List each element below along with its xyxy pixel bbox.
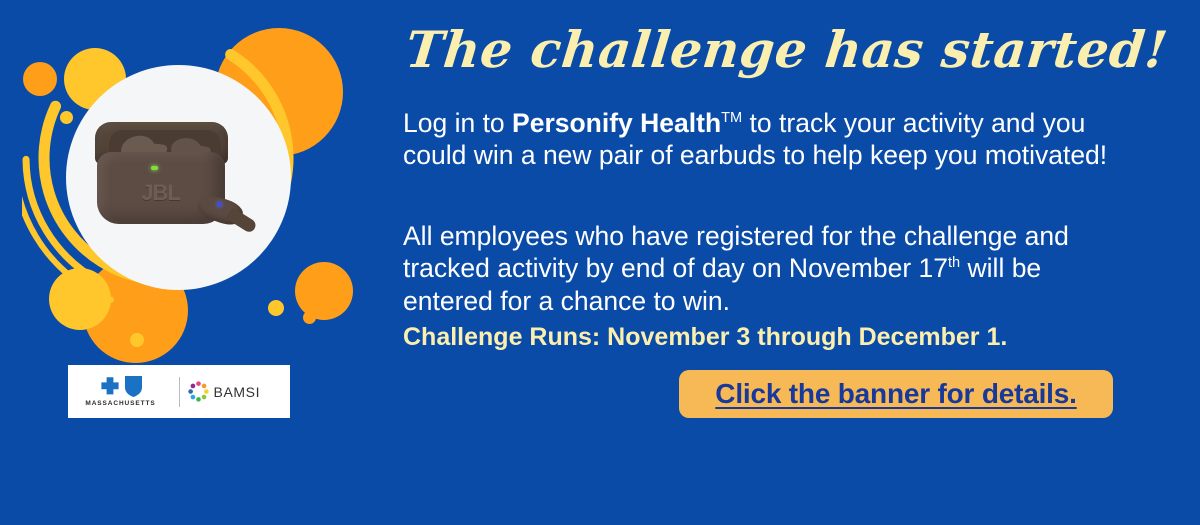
headline: The challenge has started! [403, 24, 1149, 77]
blue-shield-icon [124, 375, 143, 398]
bcbs-state-label: MASSACHUSETTS [85, 400, 155, 407]
date-ordinal-suffix: th [948, 256, 960, 272]
promo-banner: JBL MASSACHUSETTS [0, 0, 1200, 525]
challenge-dates: Challenge Runs: November 3 through Decem… [403, 322, 1143, 352]
charging-led-indicator [151, 166, 158, 170]
promo-content: The challenge has started! Log in to Per… [403, 0, 1163, 525]
product-photo-circle: JBL [66, 65, 291, 290]
earbuds-illustration: JBL [89, 110, 269, 245]
bamsi-name-label: BAMSI [214, 384, 261, 400]
paragraph-login: Log in to Personify HealthTM to track yo… [403, 107, 1133, 172]
jbl-logo: JBL [133, 180, 189, 206]
earbud-led-indicator [217, 202, 222, 207]
bamsi-flower-icon [188, 381, 209, 402]
cta-label: Click the banner for details. [715, 378, 1076, 410]
bamsi-logo: BAMSI [188, 381, 288, 402]
bcbs-logo: MASSACHUSETTS [71, 376, 171, 407]
logo-divider [179, 377, 180, 407]
paragraph-eligibility: All employees who have registered for th… [403, 220, 1133, 317]
partner-logos: MASSACHUSETTS BAMSI [68, 365, 290, 418]
hero-graphic: JBL [0, 0, 392, 350]
paragraph-login-lead: Log in to [403, 108, 512, 138]
trademark-symbol: TM [721, 110, 742, 126]
brand-personify-health: Personify Health [512, 108, 721, 138]
bcbs-marks [99, 376, 143, 398]
blue-cross-icon [99, 376, 121, 398]
click-banner-details-button[interactable]: Click the banner for details. [679, 370, 1113, 418]
